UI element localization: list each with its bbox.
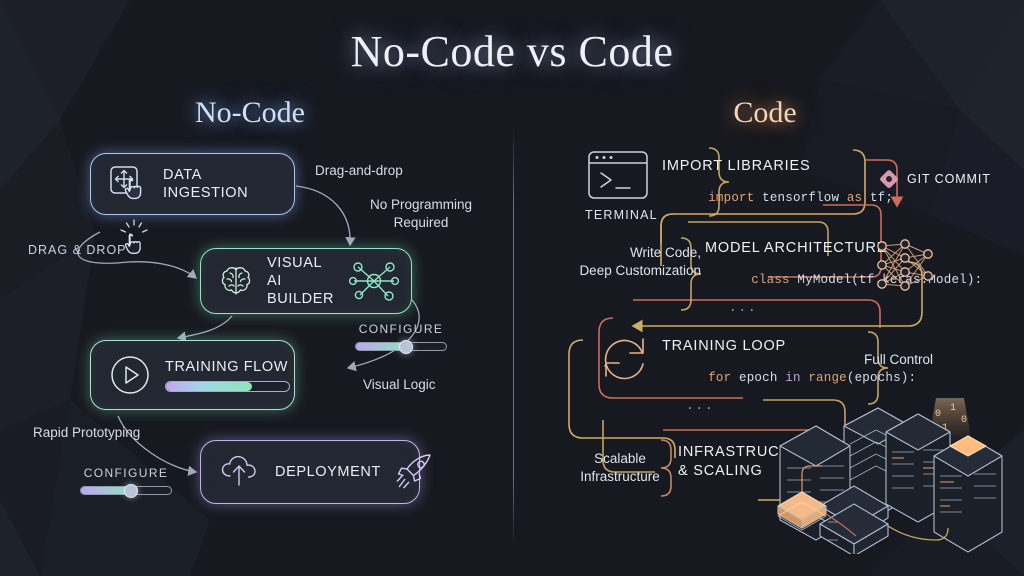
play-circle-icon [107,352,153,398]
rocket-icon [393,450,437,494]
code-token: for [708,371,731,385]
terminal-window-icon [585,148,658,204]
brain-icon [217,262,255,300]
node-graph-icon [348,257,400,305]
git-commit-label: GIT COMMIT [907,172,991,186]
code-token: tensorflow [754,191,846,205]
svg-text:1: 1 [950,403,956,414]
configure-slider-upper-label: CONFIGURE [355,322,447,336]
code-line-model-architecture: class MyModel(tf.keras.Model): [705,259,982,301]
svg-text:0: 0 [961,415,967,426]
code-continuation-model-architecture: ... [729,301,982,315]
card-data-ingestion[interactable]: DATA INGESTION [90,153,295,215]
code-token: import [708,191,754,205]
code-token: (epochs): [847,371,916,385]
code-block-import-libraries: IMPORT LIBRARIES import tensorflow as tf… [662,158,893,219]
annotation-line-2: Required [394,215,449,230]
slide-canvas: No-Code vs Code No-Code Code [0,0,1024,576]
code-block-model-architecture: MODEL ARCHITECTURE class MyModel(tf.kera… [705,240,982,315]
annotation-line-2: Deep Customization [579,263,701,278]
terminal-block: TERMINAL [585,148,658,222]
code-token: epoch [731,371,785,385]
drag-move-icon [107,163,153,205]
annotation-drag-and-drop: Drag-and-drop [315,162,403,180]
card-label-visual-ai-builder: VISUAL AI BUILDER [267,254,334,308]
configure-slider-upper[interactable]: CONFIGURE [355,322,447,351]
training-progress-bar [165,381,290,392]
git-commit-diamond-icon [878,168,900,190]
configure-slider-lower-thumb[interactable] [124,484,138,498]
annotation-write-code: Write Code, Deep Customization [556,244,701,279]
annotation-line-2: Infrastructure [580,469,660,484]
label-line-2: BUILDER [267,291,334,307]
card-training-flow[interactable]: TRAINING FLOW [90,340,295,410]
code-title-model-architecture: MODEL ARCHITECTURE [705,240,982,256]
configure-slider-lower-track[interactable] [80,486,172,495]
annotation-drag-and-drop-caps: DRAG & DROP [28,242,127,258]
training-progress-fill [166,382,252,391]
card-label-data-ingestion: DATA INGESTION [163,166,278,202]
server-racks-icon: 010 1 101 [768,386,1024,559]
annotation-line-1: Scalable [594,451,646,466]
configure-slider-lower[interactable]: CONFIGURE [80,466,172,495]
code-token: range [808,371,847,385]
svg-text:0: 0 [935,409,941,420]
refresh-loop-icon [596,332,652,391]
annotation-line-1: Write Code, [630,245,701,260]
terminal-label: TERMINAL [585,208,658,222]
code-token: as [847,191,862,205]
annotation-no-programming: No Programming Required [366,196,476,231]
annotation-visual-logic: Visual Logic [363,376,436,394]
label-line-1: VISUAL AI [267,255,322,289]
annotation-rapid-prototyping: Rapid Prototyping [33,424,140,442]
configure-slider-upper-thumb[interactable] [399,340,413,354]
code-token: class [751,273,790,287]
click-hand-icon [118,218,150,265]
code-token: in [785,371,800,385]
cloud-upload-icon [217,451,265,493]
card-label-training-flow: TRAINING FLOW [165,358,290,376]
annotation-full-control: Full Control [864,351,933,369]
code-title-import-libraries: IMPORT LIBRARIES [662,158,893,174]
card-label-deployment: DEPLOYMENT [275,463,381,481]
card-deployment[interactable]: DEPLOYMENT [200,440,420,504]
neural-network-icon [872,234,938,301]
annotation-line-1: No Programming [370,197,472,212]
card-visual-ai-builder[interactable]: VISUAL AI BUILDER [200,248,412,314]
code-line-import-libraries: import tensorflow as tf; [662,177,893,219]
annotation-scalable-infrastructure: Scalable Infrastructure [570,450,670,485]
configure-slider-upper-track[interactable] [355,342,447,351]
configure-slider-lower-label: CONFIGURE [80,466,172,480]
git-commit-badge[interactable]: GIT COMMIT [878,168,991,190]
code-token: tf; [862,191,893,205]
